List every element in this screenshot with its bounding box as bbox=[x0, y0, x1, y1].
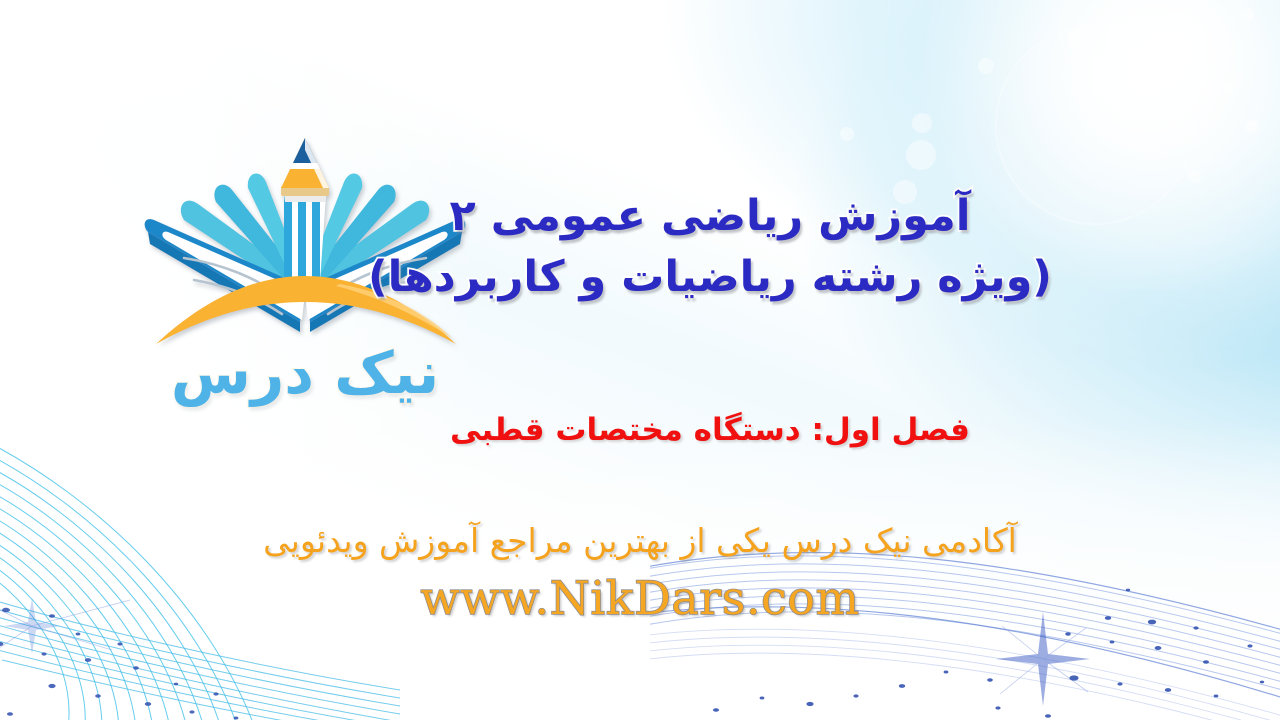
footer-block: آکادمی نیک درس یکی از بهترین مراجع آموزش… bbox=[0, 520, 1280, 625]
academy-tagline: آکادمی نیک درس یکی از بهترین مراجع آموزش… bbox=[0, 520, 1280, 561]
website-url[interactable]: www.NikDars.com bbox=[0, 571, 1280, 625]
chapter-heading: فصل اول: دستگاه مختصات قطبی bbox=[200, 412, 1220, 448]
logo-wordmark: نیک درس bbox=[140, 344, 470, 402]
course-title-line-1: آموزش ریاضی عمومی ۲ bbox=[200, 186, 1220, 247]
course-title-line-2: (ویژه رشته ریاضیات و کاربردها) bbox=[200, 247, 1220, 308]
title-slide: نیک درس آموزش ریاضی عمومی ۲ (ویژه رشته ر… bbox=[0, 0, 1280, 720]
title-block: آموزش ریاضی عمومی ۲ (ویژه رشته ریاضیات و… bbox=[200, 186, 1220, 308]
